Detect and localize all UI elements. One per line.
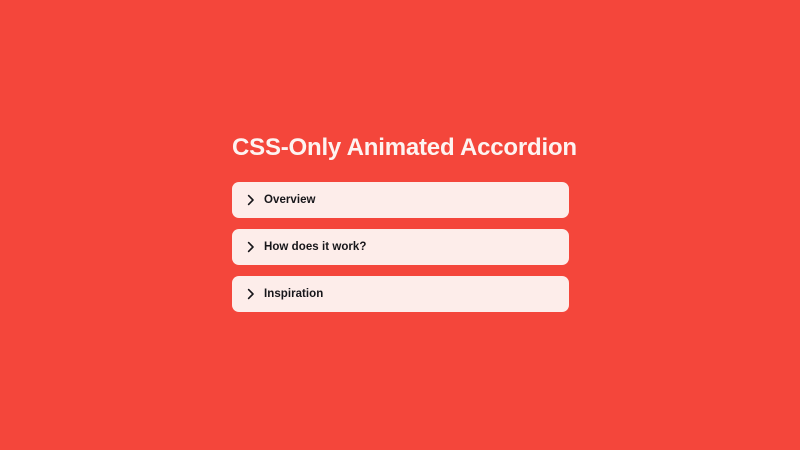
page-title: CSS-Only Animated Accordion: [232, 133, 569, 163]
accordion-header-overview[interactable]: Overview: [232, 182, 569, 218]
accordion-item-label: Inspiration: [264, 288, 323, 301]
accordion-item-label: Overview: [264, 194, 316, 207]
accordion-header-inspiration[interactable]: Inspiration: [232, 276, 569, 312]
accordion-item-overview[interactable]: Overview: [232, 182, 569, 218]
accordion-demo-container: CSS-Only Animated Accordion Overview: [232, 133, 569, 312]
accordion-header-how-does-it-work[interactable]: How does it work?: [232, 229, 569, 265]
accordion-item-label: How does it work?: [264, 241, 366, 254]
chevron-right-icon: [246, 288, 256, 300]
chevron-right-icon: [246, 194, 256, 206]
page-background: CSS-Only Animated Accordion Overview: [0, 0, 800, 450]
accordion-item-inspiration[interactable]: Inspiration: [232, 276, 569, 312]
chevron-right-icon: [246, 241, 256, 253]
accordion-item-how-does-it-work[interactable]: How does it work?: [232, 229, 569, 265]
accordion: Overview How does it work?: [232, 182, 569, 312]
